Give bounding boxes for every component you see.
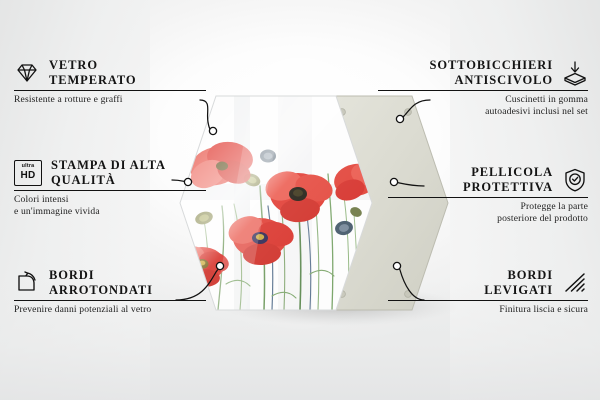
- feature-subtitle: Protegge la parte posteriore del prodott…: [388, 201, 588, 224]
- feature-sottobicchieri-antiscivolo: SOTTOBICCHIERI ANTISCIVOLO Cuscinetti in…: [378, 58, 588, 117]
- feature-header: VETRO TEMPERATO: [14, 58, 206, 87]
- feature-bordi-levigati: BORDI LEVIGATI Finitura liscia e sicura: [388, 268, 588, 316]
- hd-badge-main: HD: [20, 171, 35, 181]
- feature-divider: [14, 190, 206, 191]
- hd-badge-top: ultra: [22, 164, 35, 169]
- feature-pellicola-protettiva: PELLICOLA PROTETTIVA Protegge la parte p…: [388, 165, 588, 224]
- feature-subtitle: Resistente a rotture e graffi: [14, 94, 206, 106]
- feature-header: SOTTOBICCHIERI ANTISCIVOLO: [378, 58, 588, 87]
- feature-title: VETRO TEMPERATO: [49, 58, 137, 87]
- feature-divider: [388, 197, 588, 198]
- feature-subtitle: Prevenire danni potenziali al vetro: [14, 304, 206, 316]
- feature-title: PELLICOLA PROTETTIVA: [463, 165, 553, 194]
- feature-bordi-arrotondati: BORDI ARROTONDATI Prevenire danni potenz…: [14, 268, 206, 316]
- ultra-hd-badge-icon: ultra HD: [14, 160, 42, 186]
- infographic-canvas: VETRO TEMPERATO Resistente a rotture e g…: [0, 0, 600, 400]
- feature-header: BORDI LEVIGATI: [388, 268, 588, 297]
- feature-divider: [388, 300, 588, 301]
- feature-header: PELLICOLA PROTETTIVA: [388, 165, 588, 194]
- press-pad-icon: [562, 60, 588, 86]
- feature-header: ultra HD STAMPA DI ALTA QUALITÀ: [14, 158, 206, 187]
- feature-title: SOTTOBICCHIERI ANTISCIVOLO: [429, 58, 553, 87]
- feature-title: BORDI LEVIGATI: [484, 268, 553, 297]
- diamond-icon: [14, 60, 40, 86]
- feature-divider: [14, 300, 206, 301]
- feature-subtitle: Finitura liscia e sicura: [388, 304, 588, 316]
- feature-divider: [378, 90, 588, 91]
- feature-title: BORDI ARROTONDATI: [49, 268, 153, 297]
- feature-subtitle: Colori intensi e un'immagine vivida: [14, 194, 206, 217]
- feature-stampa-alta-qualita: ultra HD STAMPA DI ALTA QUALITÀ Colori i…: [14, 158, 206, 217]
- shield-check-icon: [562, 167, 588, 193]
- feature-subtitle: Cuscinetti in gomma autoadesivi inclusi …: [378, 94, 588, 117]
- feature-header: BORDI ARROTONDATI: [14, 268, 206, 297]
- rounded-corner-icon: [14, 270, 40, 296]
- polished-edge-icon: [562, 270, 588, 296]
- feature-divider: [14, 90, 206, 91]
- feature-vetro-temperato: VETRO TEMPERATO Resistente a rotture e g…: [14, 58, 206, 106]
- feature-title: STAMPA DI ALTA QUALITÀ: [51, 158, 166, 187]
